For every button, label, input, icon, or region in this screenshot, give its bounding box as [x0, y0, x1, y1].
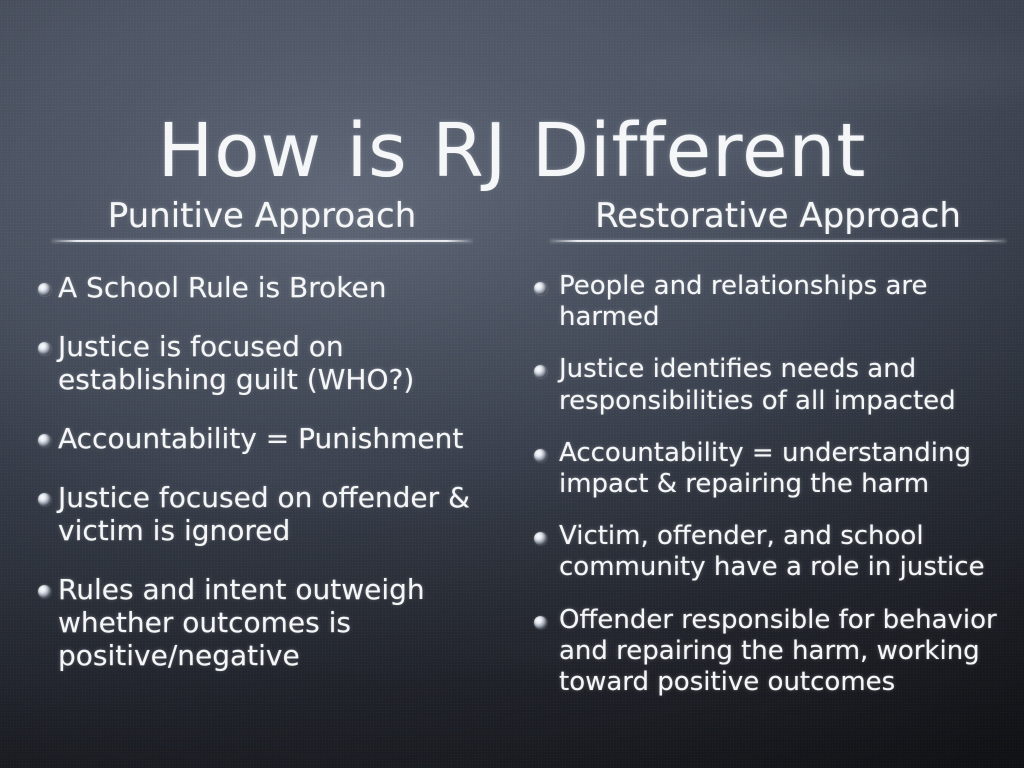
list-item-text: Accountability = understanding impact & …	[559, 438, 1024, 500]
chalk-dot-bullet-icon	[534, 449, 547, 462]
chalk-dot-bullet-icon	[38, 585, 51, 598]
list-item-text: Justice focused on offender & victim is …	[58, 481, 520, 547]
chalk-dot-bullet-icon	[38, 434, 51, 447]
list-item: Justice is focused on establishing guilt…	[20, 330, 520, 396]
list-item-text: Justice identifies needs and responsibil…	[559, 354, 1024, 416]
restorative-approach-column: Restorative Approach People and relation…	[512, 196, 1024, 719]
list-item: A School Rule is Broken	[20, 271, 520, 304]
chalk-dot-bullet-icon	[38, 342, 51, 355]
punitive-approach-column: Punitive Approach A School Rule is Broke…	[20, 196, 520, 698]
restorative-approach-heading: Restorative Approach	[550, 196, 1006, 245]
restorative-approach-list: People and relationships are harmed Just…	[512, 271, 1024, 698]
chalkboard-slide: How is RJ Different Punitive Approach A …	[0, 0, 1024, 768]
chalk-dot-bullet-icon	[534, 282, 547, 295]
punitive-approach-heading: Punitive Approach	[52, 196, 472, 245]
punitive-approach-heading-text: Punitive Approach	[108, 196, 417, 236]
chalk-dot-bullet-icon	[534, 365, 547, 378]
slide-title: How is RJ Different	[0, 114, 1024, 188]
list-item: People and relationships are harmed	[512, 271, 1024, 333]
heading-underline	[550, 240, 1006, 242]
restorative-approach-heading-text: Restorative Approach	[595, 196, 961, 236]
list-item-text: People and relationships are harmed	[559, 271, 1024, 333]
list-item-text: Victim, offender, and school community h…	[559, 521, 1024, 583]
chalk-dot-bullet-icon	[534, 532, 547, 545]
chalk-dot-bullet-icon	[38, 283, 51, 296]
list-item: Rules and intent outweigh whether outcom…	[20, 573, 520, 672]
chalk-dot-bullet-icon	[534, 616, 547, 629]
punitive-approach-list: A School Rule is Broken Justice is focus…	[20, 271, 520, 672]
list-item-text: A School Rule is Broken	[58, 271, 520, 304]
list-item-text: Offender responsible for behavior and re…	[559, 605, 1024, 699]
list-item: Victim, offender, and school community h…	[512, 521, 1024, 583]
list-item-text: Justice is focused on establishing guilt…	[58, 330, 520, 396]
list-item: Accountability = understanding impact & …	[512, 438, 1024, 500]
list-item-text: Rules and intent outweigh whether outcom…	[58, 573, 520, 672]
list-item-text: Accountability = Punishment	[58, 422, 520, 455]
list-item: Offender responsible for behavior and re…	[512, 605, 1024, 699]
list-item: Justice focused on offender & victim is …	[20, 481, 520, 547]
list-item: Justice identifies needs and responsibil…	[512, 354, 1024, 416]
chalk-dot-bullet-icon	[38, 493, 51, 506]
list-item: Accountability = Punishment	[20, 422, 520, 455]
heading-underline	[52, 240, 472, 242]
